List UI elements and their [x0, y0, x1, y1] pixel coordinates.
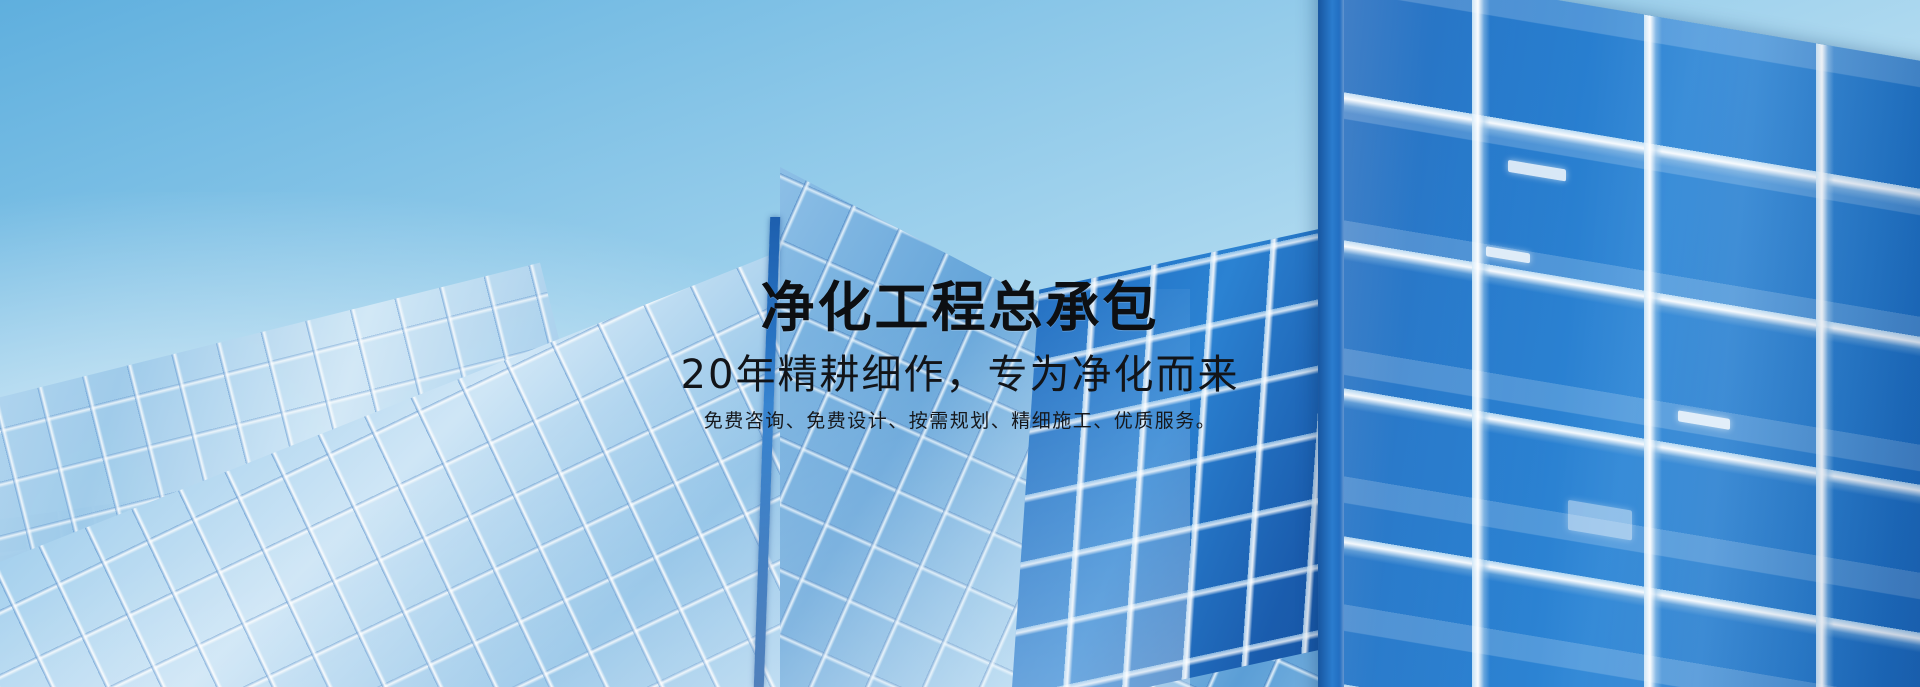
hero-copy-block: 净化工程总承包 20年精耕细作，专为净化而来 免费咨询、免费设计、按需规划、精细… [0, 276, 1920, 433]
banner-subheadline: 20年精耕细作，专为净化而来 [0, 350, 1920, 400]
tower-vertical-sheen [1318, 0, 1920, 687]
tower-left-edge [1318, 0, 1344, 687]
right-glass-tower [1318, 0, 1920, 687]
banner-tagline: 免费咨询、免费设计、按需规划、精细施工、优质服务。 [0, 409, 1920, 434]
banner-headline: 净化工程总承包 [0, 276, 1920, 340]
hero-banner: 净化工程总承包 20年精耕细作，专为净化而来 免费咨询、免费设计、按需规划、精细… [0, 0, 1920, 687]
